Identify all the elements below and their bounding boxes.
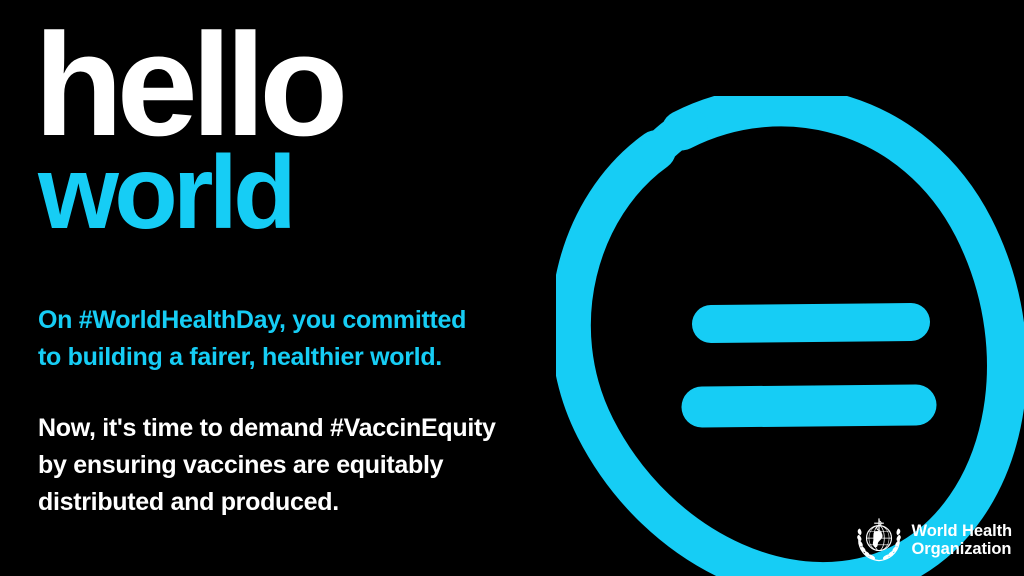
body-copy: On #WorldHealthDay, you committed to bui… xyxy=(38,302,578,521)
who-wordmark-line-1: World Health xyxy=(912,522,1012,540)
page-title: hello world xyxy=(34,18,554,242)
equals-bars xyxy=(702,322,916,407)
who-wordmark-line-2: Organization xyxy=(912,540,1012,558)
paragraph-commitment-line-2: to building a fairer, healthier world. xyxy=(38,339,578,376)
who-logo: World Health Organization xyxy=(855,516,1012,564)
paragraph-commitment-line-1: On #WorldHealthDay, you committed xyxy=(38,302,578,339)
paragraph-commitment: On #WorldHealthDay, you committed to bui… xyxy=(38,302,578,376)
equals-sign-in-circle-graphic xyxy=(556,96,1024,576)
paragraph-demand: Now, it's time to demand #VaccinEquity b… xyxy=(38,410,578,521)
who-wordmark: World Health Organization xyxy=(912,522,1012,558)
headline-line-hello: hello xyxy=(34,18,554,152)
paragraph-demand-line-2: by ensuring vaccines are equitably xyxy=(38,447,578,484)
who-emblem-icon xyxy=(855,516,903,564)
social-media-card: hello world On #WorldHealthDay, you comm… xyxy=(0,0,1024,576)
paragraph-demand-line-1: Now, it's time to demand #VaccinEquity xyxy=(38,410,578,447)
paragraph-demand-line-3: distributed and produced. xyxy=(38,484,578,521)
